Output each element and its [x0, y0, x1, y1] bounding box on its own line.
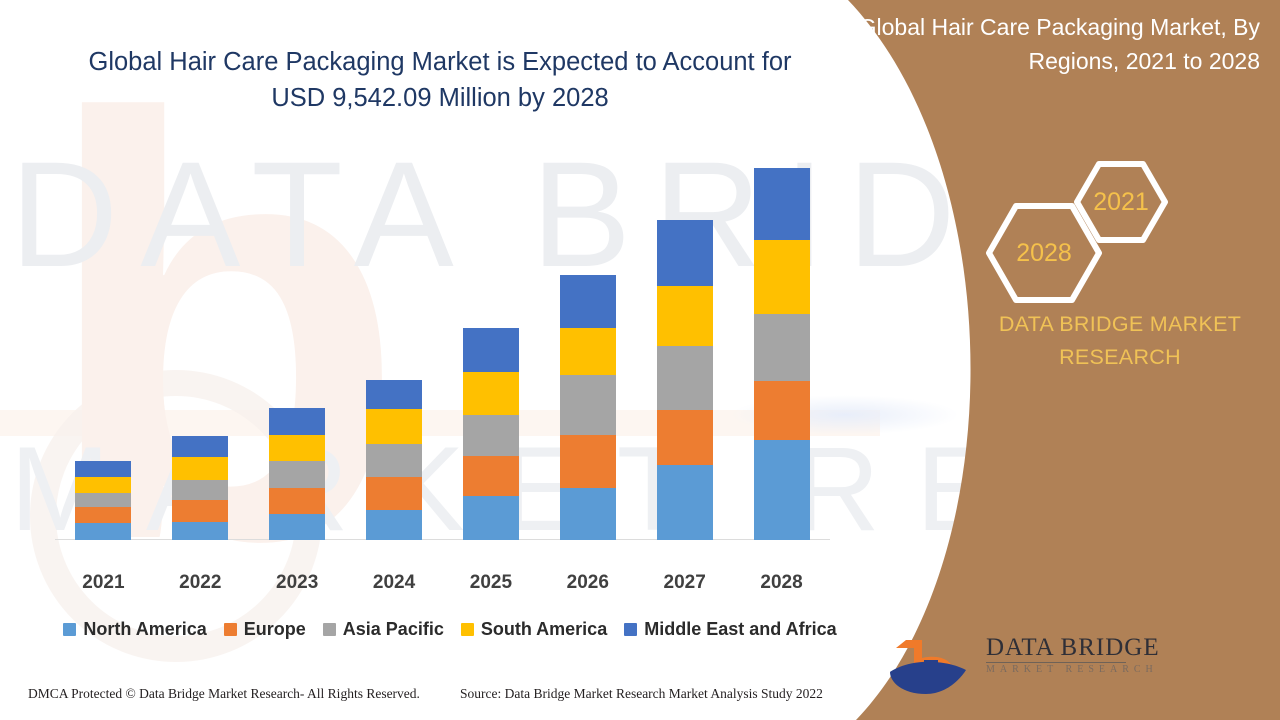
data-bridge-logo: DATA BRIDGE MARKET RESEARCH — [888, 636, 1118, 698]
logo-mark-icon — [888, 636, 984, 698]
hexagon-2021: 2021 — [1073, 160, 1169, 244]
logo-divider — [986, 662, 1126, 663]
hexagon-group: 2028 2021 — [985, 160, 1185, 290]
hexagon-2021-label: 2021 — [1073, 160, 1169, 244]
logo-wordmark: DATA BRIDGE — [986, 634, 1126, 662]
panel-brand-line2: RESEARCH — [1059, 345, 1181, 369]
right-brand-panel: Global Hair Care Packaging Market, By Re… — [0, 0, 1280, 720]
panel-brand-name: DATA BRIDGE MARKET RESEARCH — [965, 308, 1275, 374]
logo-tagline: MARKET RESEARCH — [986, 664, 1136, 675]
panel-title: Global Hair Care Packaging Market, By Re… — [830, 10, 1260, 78]
panel-brand-line1: DATA BRIDGE MARKET — [999, 312, 1241, 336]
infographic-canvas: b DATA BRIDGE MARKET RESEARCH Global Hai… — [0, 0, 1280, 720]
